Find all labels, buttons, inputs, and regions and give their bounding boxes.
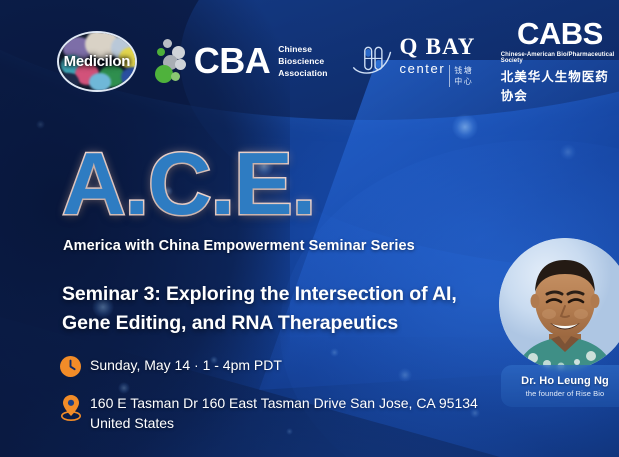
seminar-headline: Seminar 3: Exploring the Intersection of… — [62, 280, 492, 338]
qbay-text-block: Q BAY center 钱塘中心 — [400, 35, 479, 87]
logo-cba[interactable]: CBA Chinese Bioscience Association — [155, 39, 328, 83]
event-location: 160 E Tasman Dr 160 East Tasman Drive Sa… — [90, 393, 480, 434]
cba-molecule-icon — [155, 39, 189, 83]
cba-subtitle: Chinese Bioscience Association — [278, 43, 327, 80]
location-icon-wrap — [60, 393, 90, 427]
ace-acronym-title: A.C.E. — [62, 140, 315, 228]
medicilon-wordmark: Medicilon — [64, 53, 130, 70]
event-poster: Medicilon CBA Chinese Bioscience Associa… — [0, 0, 619, 457]
event-details: Sunday, May 14 · 1 - 4pm PDT 160 E Tasma… — [60, 355, 480, 445]
speaker-avatar — [499, 238, 619, 370]
location-pin-icon — [60, 394, 82, 422]
cabs-wordmark: CABS — [517, 18, 603, 49]
speaker-role: the founder of Rise Bio — [526, 389, 605, 398]
qbay-subtitle-cn: 钱塘中心 — [449, 65, 478, 87]
qbay-subtitle: center — [400, 61, 446, 76]
clock-icon — [60, 356, 81, 377]
speaker-name-card: Dr. Ho Leung Ng the founder of Rise Bio — [501, 365, 619, 407]
cabs-subtitle-cn: 北美华人生物医药协会 — [501, 66, 619, 104]
cba-subtitle-line: Association — [278, 67, 327, 79]
event-datetime-row: Sunday, May 14 · 1 - 4pm PDT — [60, 355, 480, 382]
logo-medicilon[interactable]: Medicilon — [57, 31, 137, 92]
event-location-row: 160 E Tasman Dr 160 East Tasman Drive Sa… — [60, 393, 480, 434]
qbay-subtitle-row: center 钱塘中心 — [400, 61, 479, 87]
qbay-wordmark: Q BAY — [400, 35, 476, 58]
cba-subtitle-line: Chinese — [278, 43, 327, 55]
logo-qbay-center[interactable]: Q BAY center 钱塘中心 — [352, 35, 479, 87]
sponsor-logo-bar: Medicilon CBA Chinese Bioscience Associa… — [0, 28, 619, 94]
speaker-portrait-icon — [499, 238, 619, 370]
ace-expansion-subtitle: America with China Empowerment Seminar S… — [63, 238, 415, 254]
logo-cabs[interactable]: CABS Chinese-American Bio/Pharmaceutical… — [501, 18, 619, 104]
cabs-subtitle-en: Chinese-American Bio/Pharmaceutical Soci… — [501, 52, 619, 64]
cba-subtitle-line: Bioscience — [278, 55, 327, 67]
qbay-emblem-icon — [352, 39, 393, 83]
event-datetime: Sunday, May 14 · 1 - 4pm PDT — [90, 355, 282, 375]
speaker-name: Dr. Ho Leung Ng — [521, 375, 609, 387]
cba-wordmark: CBA — [194, 43, 271, 79]
clock-icon-wrap — [60, 355, 90, 382]
